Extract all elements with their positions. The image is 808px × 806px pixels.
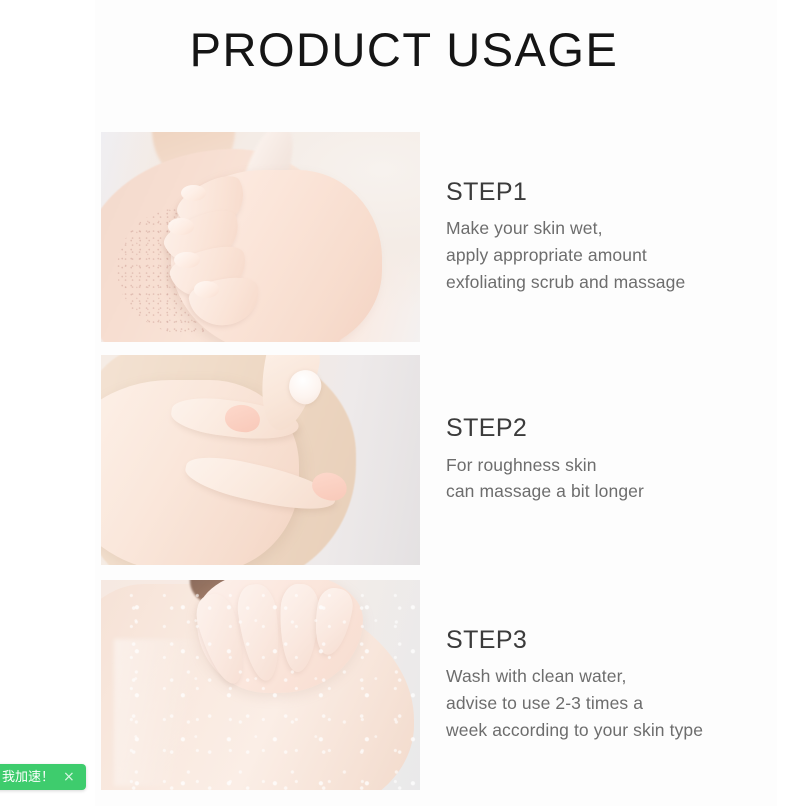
close-icon[interactable]: × bbox=[61, 770, 77, 784]
photo-3-water-droplets bbox=[101, 580, 420, 790]
step-3-photo bbox=[101, 580, 420, 790]
photo-1-fingernail bbox=[168, 218, 194, 235]
step-3-description: Wash with clean water, advise to use 2-3… bbox=[446, 663, 761, 743]
step-row-2: STEP2 For roughness skin can massage a b… bbox=[101, 355, 761, 565]
step-row-1: STEP1 Make your skin wet, apply appropri… bbox=[101, 132, 761, 342]
accelerator-badge[interactable]: 我加速！ × bbox=[0, 764, 86, 790]
step-1-heading: STEP1 bbox=[446, 179, 761, 207]
step-3-line-3: week according to your skin type bbox=[446, 717, 761, 744]
step-row-3: STEP3 Wash with clean water, advise to u… bbox=[101, 580, 761, 790]
step-2-description: For roughness skin can massage a bit lon… bbox=[446, 452, 761, 505]
page-title: PRODUCT USAGE bbox=[0, 22, 808, 78]
step-2-line-1: For roughness skin bbox=[446, 452, 761, 479]
step-1-text: STEP1 Make your skin wet, apply appropri… bbox=[446, 132, 761, 342]
step-1-description: Make your skin wet, apply appropriate am… bbox=[446, 215, 761, 295]
step-3-text: STEP3 Wash with clean water, advise to u… bbox=[446, 580, 761, 790]
step-1-photo bbox=[101, 132, 420, 342]
step-2-heading: STEP2 bbox=[446, 415, 761, 443]
step-2-photo bbox=[101, 355, 420, 565]
accelerator-badge-label: 我加速！ bbox=[2, 771, 54, 784]
step-2-line-2: can massage a bit longer bbox=[446, 478, 761, 505]
step-1-line-3: exfoliating scrub and massage bbox=[446, 269, 761, 296]
step-2-text: STEP2 For roughness skin can massage a b… bbox=[446, 355, 761, 565]
step-3-line-1: Wash with clean water, bbox=[446, 663, 761, 690]
step-3-heading: STEP3 bbox=[446, 627, 761, 655]
step-1-line-1: Make your skin wet, bbox=[446, 215, 761, 242]
photo-1-fingernail bbox=[194, 281, 220, 298]
step-3-line-2: advise to use 2-3 times a bbox=[446, 690, 761, 717]
step-1-line-2: apply appropriate amount bbox=[446, 242, 761, 269]
